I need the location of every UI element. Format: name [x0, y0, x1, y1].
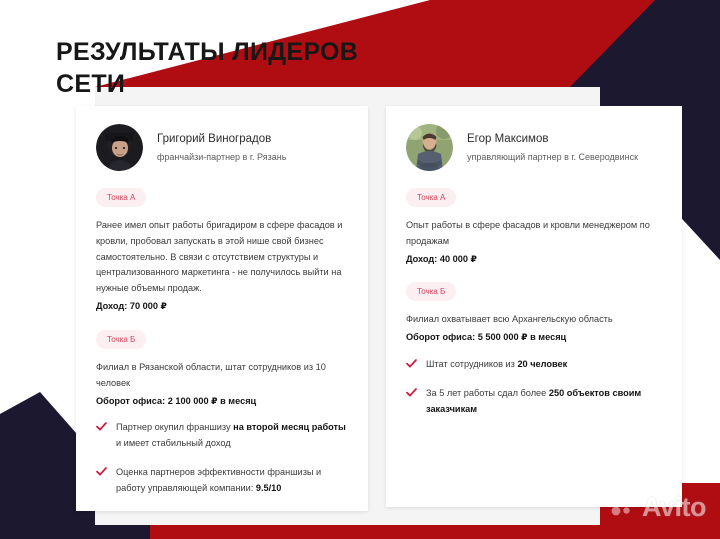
- point-a-text: Ранее имел опыт работы бригадиром в сфер…: [96, 218, 348, 297]
- person-header: Григорий Виноградов франчайзи-партнер в …: [96, 124, 348, 171]
- list-item: Партнер окупил франшизу на второй месяц …: [96, 420, 348, 452]
- check-icon: [96, 422, 107, 452]
- person-header: Егор Максимов управляющий партнер в г. С…: [406, 124, 662, 171]
- point-b-metric: Оборот офиса: 5 500 000 ₽ в месяц: [406, 330, 662, 346]
- page-title: РЕЗУЛЬТАТЫ ЛИДЕРОВ СЕТИ: [56, 36, 416, 100]
- person-name: Егор Максимов: [467, 133, 638, 145]
- person-info: Григорий Виноградов франчайзи-партнер в …: [157, 133, 286, 162]
- point-b-text: Филиал в Рязанской области, штат сотрудн…: [96, 360, 348, 392]
- results-card-list: Григорий Виноградов франчайзи-партнер в …: [76, 106, 686, 514]
- point-a-badge: Точка А: [406, 188, 456, 207]
- check-icon: [96, 467, 107, 497]
- result-card: Григорий Виноградов франчайзи-партнер в …: [76, 106, 368, 511]
- check-list: Штат сотрудников из 20 человек За 5 лет …: [406, 357, 662, 417]
- person-role: франчайзи-партнер в г. Рязань: [157, 152, 286, 162]
- check-text: Партнер окупил франшизу на второй месяц …: [116, 420, 348, 452]
- avatar: [96, 124, 143, 171]
- point-a-metric: Доход: 70 000 ₽: [96, 299, 348, 315]
- person-info: Егор Максимов управляющий партнер в г. С…: [467, 133, 638, 162]
- list-item: Оценка партнеров эффективности франшизы …: [96, 465, 348, 497]
- check-icon: [406, 388, 417, 418]
- point-a-metric: Доход: 40 000 ₽: [406, 252, 662, 268]
- point-a-badge: Точка А: [96, 188, 146, 207]
- slide-canvas: РЕЗУЛЬТАТЫ ЛИДЕРОВ СЕТИ: [0, 0, 720, 539]
- point-b-metric: Оборот офиса: 2 100 000 ₽ в месяц: [96, 394, 348, 410]
- list-item: Штат сотрудников из 20 человек: [406, 357, 662, 373]
- result-card: Егор Максимов управляющий партнер в г. С…: [386, 106, 682, 507]
- check-list: Партнер окупил франшизу на второй месяц …: [96, 420, 348, 496]
- person-name: Григорий Виноградов: [157, 133, 286, 145]
- point-a-text: Опыт работы в сфере фасадов и кровли мен…: [406, 218, 662, 250]
- avatar: [406, 124, 453, 171]
- person-role: управляющий партнер в г. Северодвинск: [467, 152, 638, 162]
- check-text: Оценка партнеров эффективности франшизы …: [116, 465, 348, 497]
- point-b-badge: Точка Б: [96, 330, 146, 349]
- point-b-text: Филиал охватывает всю Архангельскую обла…: [406, 312, 662, 328]
- check-text: Штат сотрудников из 20 человек: [426, 357, 567, 373]
- point-b-badge: Точка Б: [406, 282, 456, 301]
- check-icon: [406, 359, 417, 373]
- list-item: За 5 лет работы сдал более 250 объектов …: [406, 386, 662, 418]
- check-text: За 5 лет работы сдал более 250 объектов …: [426, 386, 662, 418]
